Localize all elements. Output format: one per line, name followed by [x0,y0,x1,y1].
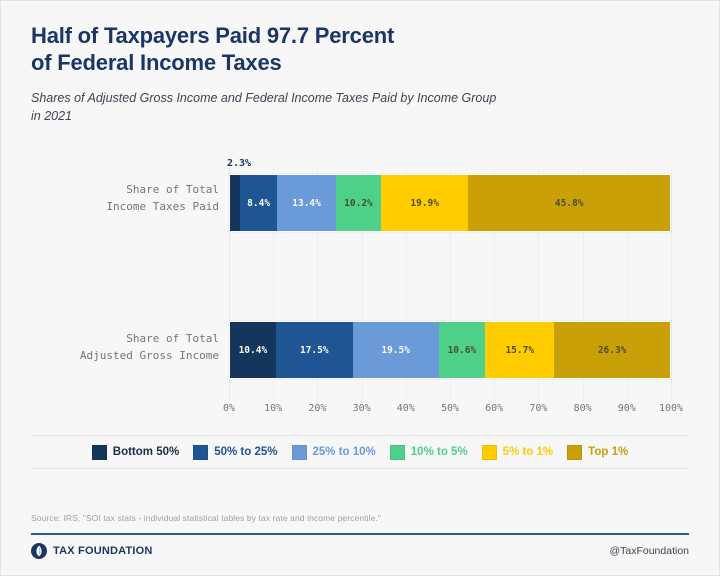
x-axis-tick-label: 0% [223,403,235,414]
legend-label: Top 1% [588,446,628,458]
title-line-2: of Federal Income Taxes [31,50,689,77]
subtitle-line-2: in 2021 [31,107,689,125]
x-axis-tick-label: 10% [264,403,282,414]
bar-segment-value: 10.6% [448,345,477,356]
legend-label: 5% to 1% [503,446,554,458]
tax-foundation-logo-icon [31,543,47,559]
bar-segment-value: 26.3% [598,345,627,356]
bar-segment-value: 17.5% [300,345,329,356]
legend-item[interactable]: Bottom 50% [92,445,179,460]
legend-item[interactable]: Top 1% [567,445,628,460]
legend-label: 10% to 5% [411,446,468,458]
chart-subtitle: Shares of Adjusted Gross Income and Fede… [31,89,689,125]
bar-segment: 8.4% [240,175,277,231]
x-axis-tick-label: 100% [659,403,683,414]
bar-segment: 19.5% [353,322,439,378]
bar-segment: 10.2% [336,175,381,231]
bar-segment: 10.4% [230,322,276,378]
bar-segment-value: 19.9% [410,198,439,209]
category-label-line-2: Income Taxes Paid [39,199,219,216]
bar-segment: 15.7% [485,322,554,378]
bar-segment: 2.3% [230,175,240,231]
legend-item[interactable]: 5% to 1% [482,445,554,460]
category-label-line-2: Adjusted Gross Income [39,348,219,365]
bar-segment: 17.5% [276,322,353,378]
bar-segment: 10.6% [439,322,486,378]
social-handle: @TaxFoundation [609,539,689,557]
legend-swatch-icon [193,445,208,460]
x-axis-tick-label: 80% [574,403,592,414]
legend-swatch-icon [92,445,107,460]
legend-label: 50% to 25% [214,446,277,458]
x-axis-tick-label: 20% [308,403,326,414]
category-label-income-taxes-paid: Share of Total Income Taxes Paid [39,182,219,215]
source-note: Source: IRS, "SOI tax stats - individual… [31,513,381,523]
x-axis-tick-label: 60% [485,403,503,414]
legend-swatch-icon [482,445,497,460]
bar-segment-value: 45.8% [555,198,584,209]
x-axis: 0%10%20%30%40%50%60%70%80%90%100% [229,403,671,421]
legend-item[interactable]: 50% to 25% [193,445,277,460]
stacked-bar-adjusted-gross-income: 10.4%17.5%19.5%10.6%15.7%26.3% [229,321,671,379]
page-title: Half of Taxpayers Paid 97.7 Percent of F… [31,23,689,77]
bar-segment: 26.3% [554,322,670,378]
category-label-adjusted-gross-income: Share of Total Adjusted Gross Income [39,331,219,364]
chart-legend: Bottom 50%50% to 25%25% to 10%10% to 5%5… [31,435,689,469]
bar-segment-value: 10.4% [239,345,268,356]
bar-segment: 45.8% [468,175,670,231]
x-axis-tick-label: 70% [529,403,547,414]
stacked-bar-income-taxes-paid: 2.3% 2.3%8.4%13.4%10.2%19.9%45.8% [229,174,671,232]
category-label-line-1: Share of Total [39,331,219,348]
brand: TAX FOUNDATION [31,537,153,559]
legend-item[interactable]: 10% to 5% [390,445,468,460]
bar-segment: 19.9% [381,175,469,231]
bar-segment-value: 13.4% [292,198,321,209]
legend-label: Bottom 50% [113,446,179,458]
legend-label: 25% to 10% [313,446,376,458]
gridline [671,166,672,401]
bar-segment-value: 10.2% [344,198,373,209]
legend-swatch-icon [390,445,405,460]
legend-swatch-icon [567,445,582,460]
bar-segment-value: 15.7% [505,345,534,356]
title-line-1: Half of Taxpayers Paid 97.7 Percent [31,23,689,50]
segment-callout-bottom-50: 2.3% [227,158,251,169]
brand-name: TAX FOUNDATION [53,545,153,557]
plot-area: 2.3% 2.3%8.4%13.4%10.2%19.9%45.8% 10.4%1… [229,166,671,401]
category-label-line-1: Share of Total [39,182,219,199]
footer: TAX FOUNDATION @TaxFoundation [31,533,689,561]
legend-item[interactable]: 25% to 10% [292,445,376,460]
x-axis-tick-label: 90% [618,403,636,414]
legend-swatch-icon [292,445,307,460]
bar-segment: 13.4% [277,175,336,231]
x-axis-tick-label: 40% [397,403,415,414]
x-axis-tick-label: 30% [353,403,371,414]
bar-row: 10.4%17.5%19.5%10.6%15.7%26.3% [229,321,671,379]
subtitle-line-1: Shares of Adjusted Gross Income and Fede… [31,89,689,107]
chart-header: Half of Taxpayers Paid 97.7 Percent of F… [1,1,719,125]
bar-row: 2.3%8.4%13.4%10.2%19.9%45.8% [229,174,671,232]
bar-segment-value: 8.4% [247,198,270,209]
bar-segment-value: 19.5% [381,345,410,356]
chart-figure: Half of Taxpayers Paid 97.7 Percent of F… [0,0,720,576]
x-axis-tick-label: 50% [441,403,459,414]
